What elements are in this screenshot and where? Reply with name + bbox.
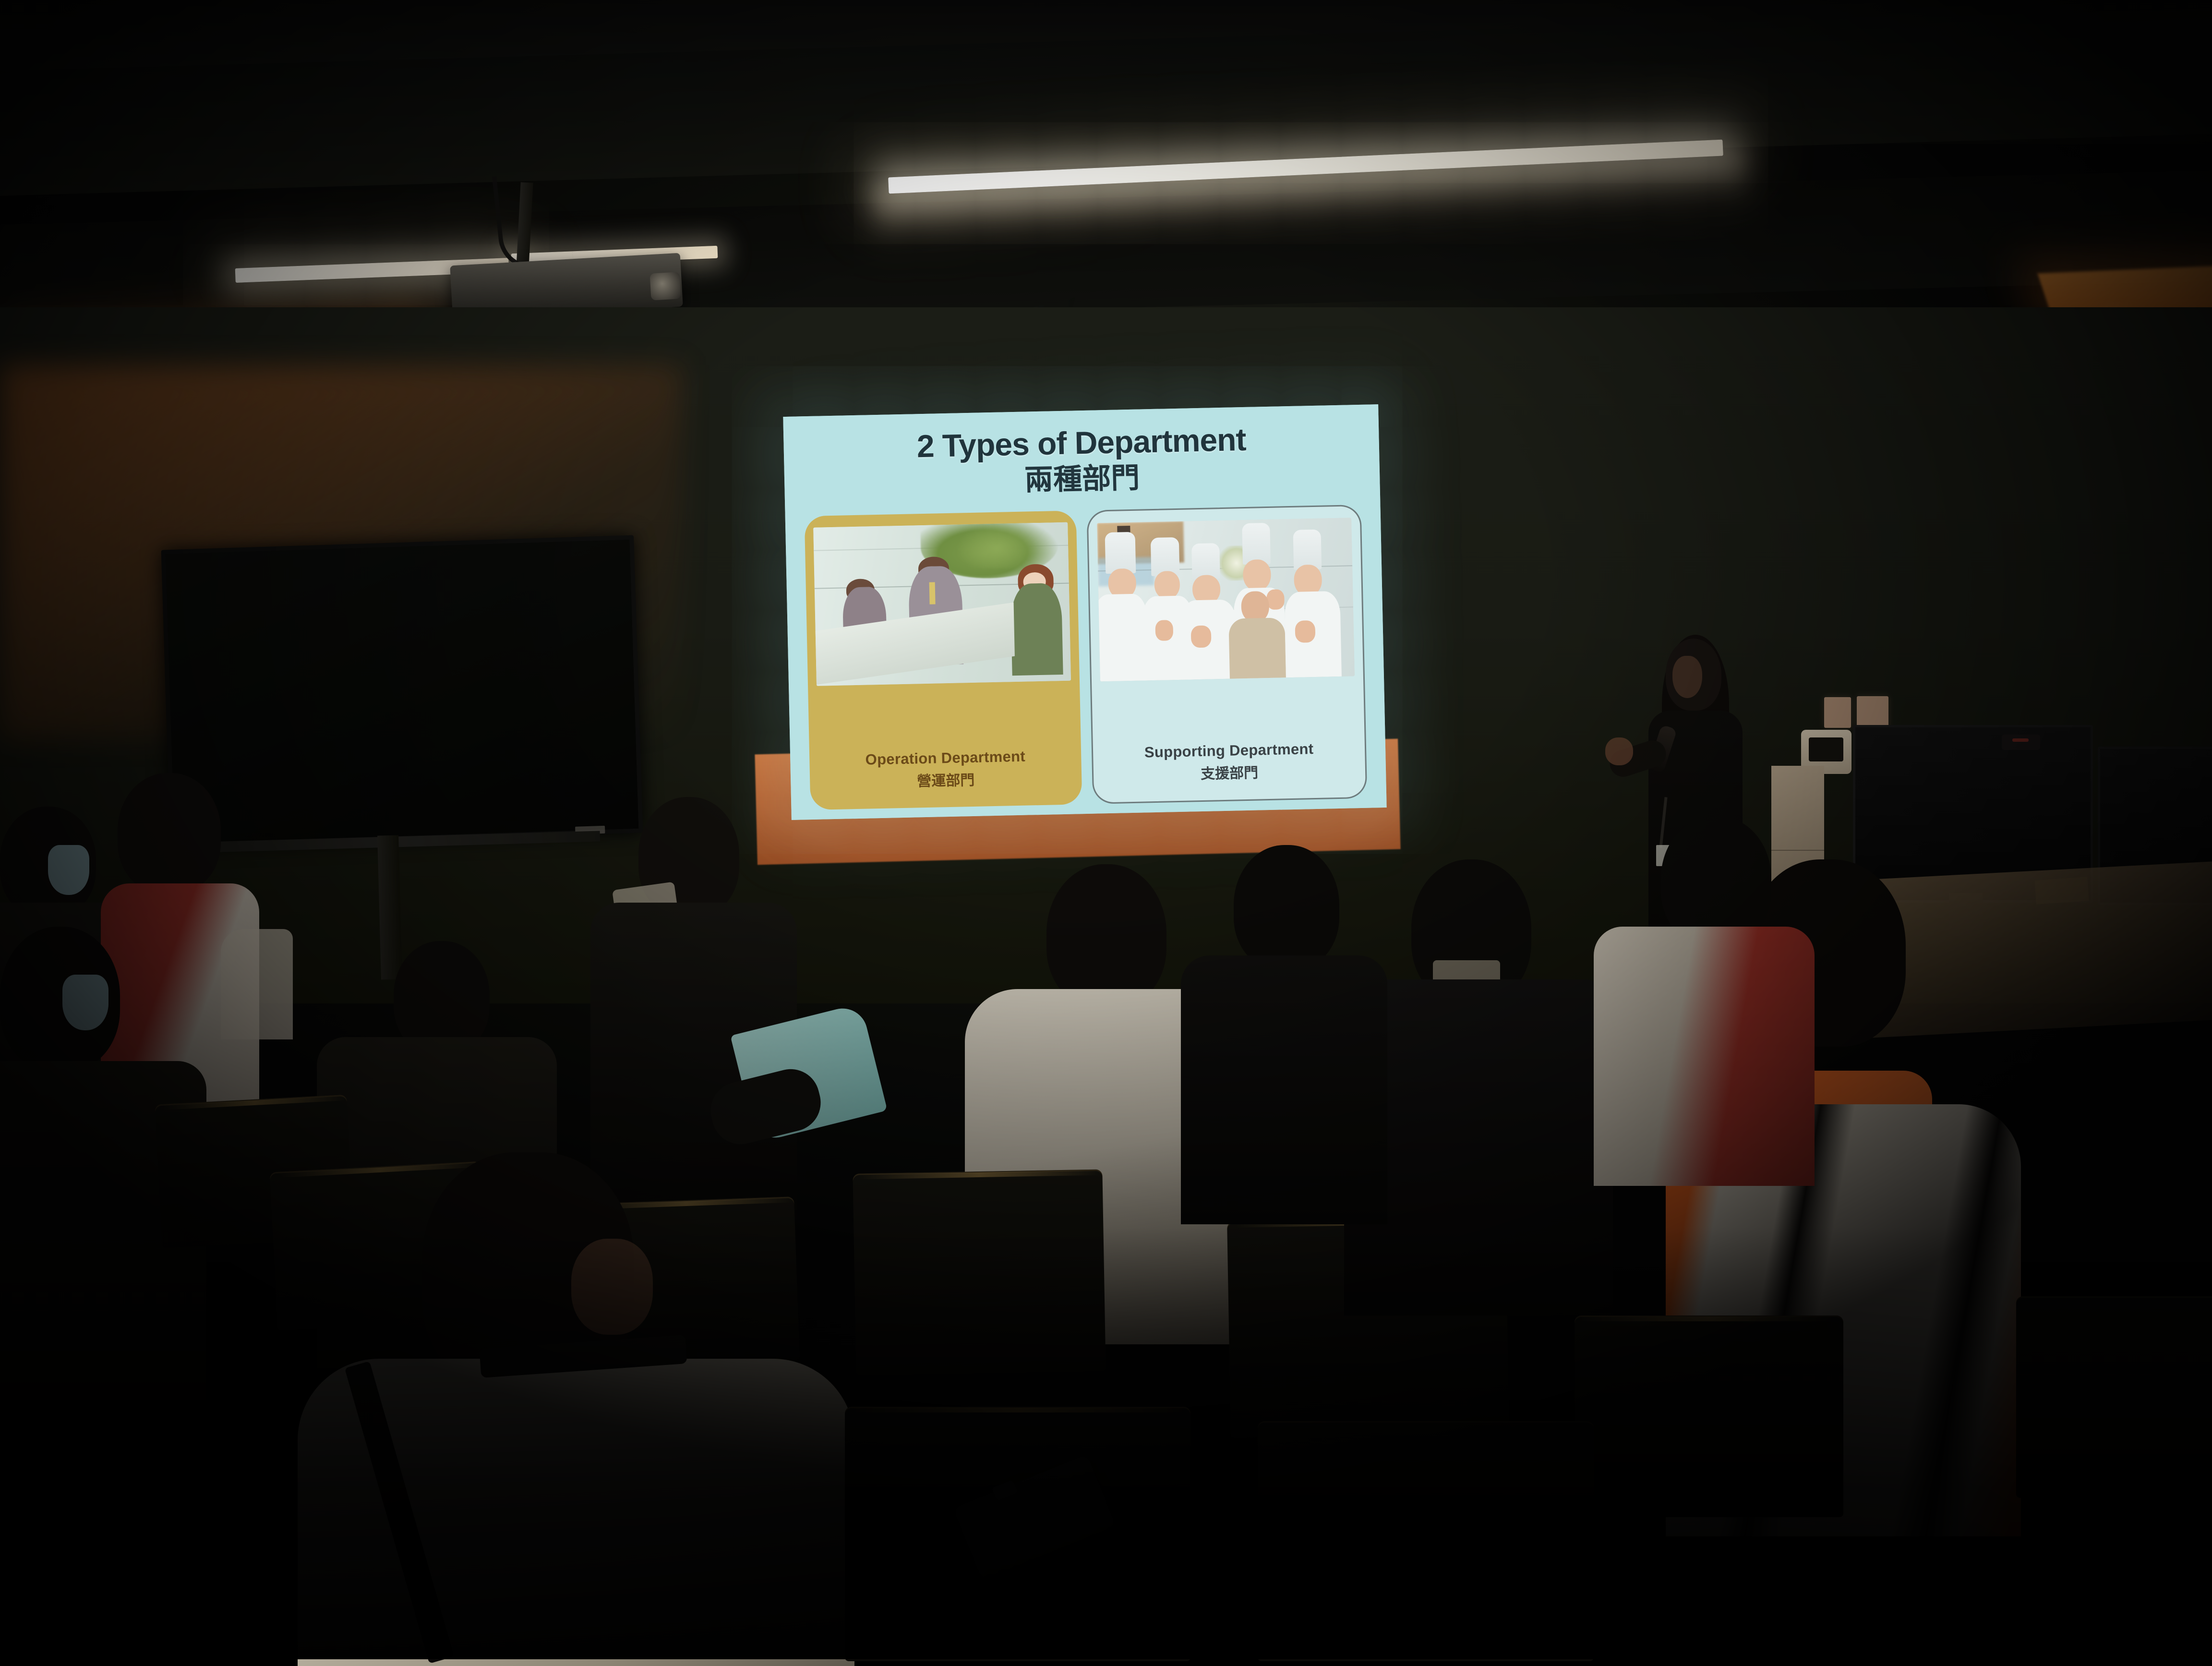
wall-mounted-flat-panel-display[interactable]	[161, 535, 643, 848]
face-mask	[48, 845, 89, 895]
presenter-face	[1672, 656, 1702, 698]
face-mask	[62, 975, 108, 1030]
chair-backrest-highlight	[1579, 1316, 1839, 1321]
attendee-head	[1046, 864, 1166, 1008]
slide-title-chinese: 兩種部門	[804, 458, 1361, 500]
presenter-hand	[1605, 737, 1633, 765]
panel-operation-department[interactable]: Operation Department 營運部門	[805, 511, 1082, 810]
attendee-head	[118, 773, 221, 893]
display-stand-column	[377, 835, 402, 979]
presentation-slide: 2 Types of Department 兩種部門	[783, 404, 1386, 820]
panel-label-operation-en: Operation Department	[865, 748, 1025, 769]
projector-lens	[649, 272, 681, 300]
chair[interactable]	[2016, 1296, 2212, 1498]
projection-screen[interactable]: 2 Types of Department 兩種部門	[783, 404, 1386, 820]
display-screen	[166, 540, 638, 843]
light-switch-plate-left[interactable]	[1824, 697, 1851, 728]
chair[interactable]	[1258, 1421, 1594, 1661]
webcam	[2002, 735, 2040, 750]
lecture-room-scene: 2 Types of Department 兩種部門	[0, 0, 2212, 1659]
kitchen-chefs-group-photo	[1097, 518, 1355, 682]
panel-supporting-department[interactable]: Supporting Department 支援部門	[1087, 505, 1368, 804]
department-panels: Operation Department 營運部門	[805, 505, 1368, 810]
attendee-torso	[1594, 927, 1815, 1186]
av-rack-seam-1	[1771, 850, 1824, 851]
slide-title-english: 2 Types of Department	[803, 421, 1360, 465]
attendee-head	[1234, 845, 1339, 970]
attendee-ear-and-jaw	[571, 1239, 653, 1335]
panel-label-supporting-en: Supporting Department	[1144, 740, 1314, 761]
light-switch-plate-right[interactable]	[1857, 696, 1888, 728]
chair[interactable]	[1575, 1316, 1843, 1517]
chair[interactable]	[853, 1169, 1106, 1375]
panel-label-supporting-zh: 支援部門	[1201, 761, 1259, 784]
desk-paper	[2034, 877, 2089, 905]
webcam-indicator-light	[2012, 738, 2029, 742]
hotel-front-desk-staff-photo	[813, 522, 1071, 686]
chair-backrest-highlight	[852, 1408, 1183, 1412]
av-control-touchpanel-screen[interactable]	[1809, 737, 1843, 761]
attendee-arm	[221, 929, 293, 1039]
attendee-torso	[1181, 955, 1387, 1224]
panel-label-operation-zh: 營運部門	[917, 768, 975, 791]
